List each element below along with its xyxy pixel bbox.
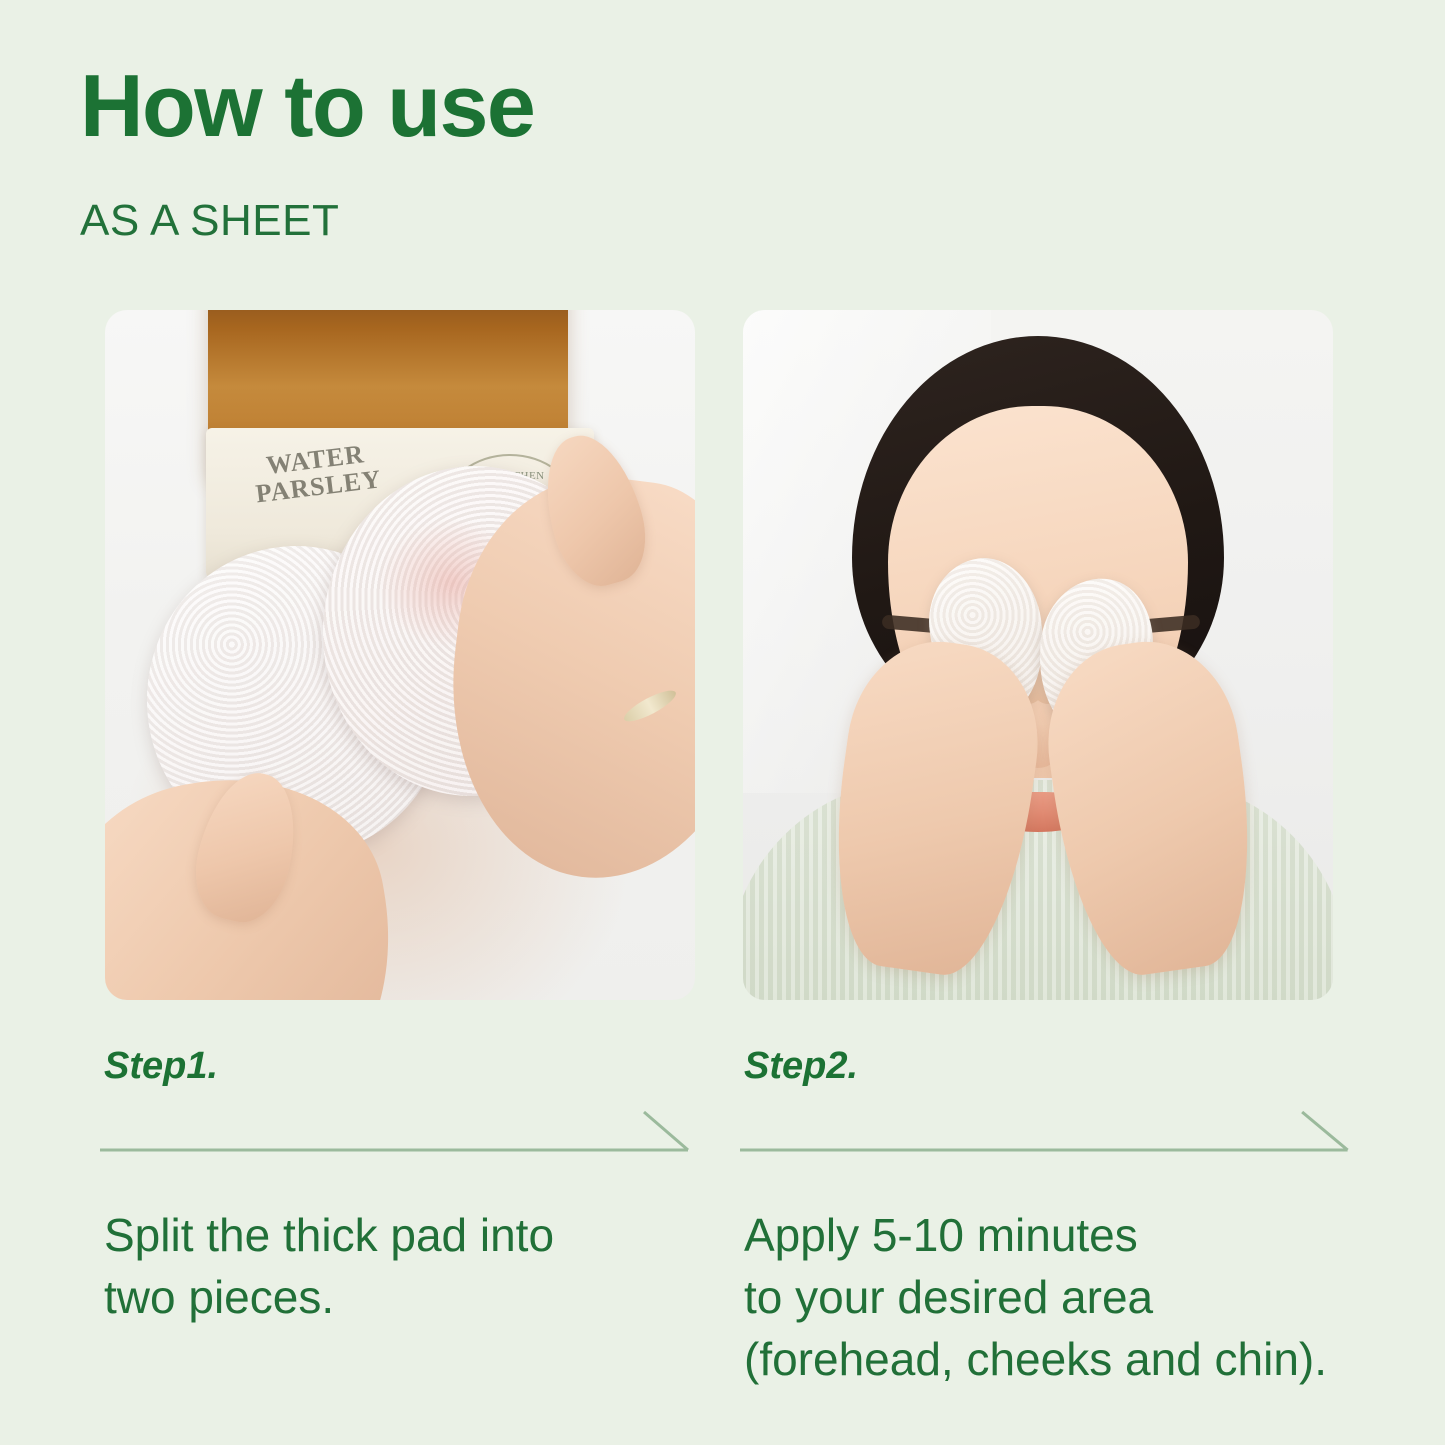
split-pad-photo: WATER PARSLEY PANTOTHEN bbox=[105, 310, 695, 1000]
step-1-arrow-icon bbox=[100, 1104, 700, 1164]
how-to-use-page: How to use AS A SHEET WATER PARSLEY PANT… bbox=[0, 0, 1445, 1445]
step-1-label: Step1. bbox=[100, 1045, 700, 1088]
steps-row: Step1. Split the thick pad into two piec… bbox=[0, 1045, 1445, 1390]
step-2-label: Step2. bbox=[740, 1045, 1360, 1088]
step-2-arrow-icon bbox=[740, 1104, 1360, 1164]
photo-row: WATER PARSLEY PANTOTHEN bbox=[105, 310, 1333, 1000]
step-1-body: Split the thick pad into two pieces. bbox=[100, 1204, 700, 1328]
product-brand-text: WATER PARSLEY bbox=[229, 436, 404, 511]
page-header: How to use AS A SHEET bbox=[80, 62, 980, 246]
apply-pad-photo bbox=[743, 310, 1333, 1000]
step-2: Step2. Apply 5-10 minutes to your desire… bbox=[740, 1045, 1360, 1390]
step-1: Step1. Split the thick pad into two piec… bbox=[100, 1045, 700, 1390]
page-subtitle: AS A SHEET bbox=[80, 150, 980, 246]
step-2-body: Apply 5-10 minutes to your desired area … bbox=[740, 1204, 1360, 1390]
page-title: How to use bbox=[80, 62, 980, 150]
